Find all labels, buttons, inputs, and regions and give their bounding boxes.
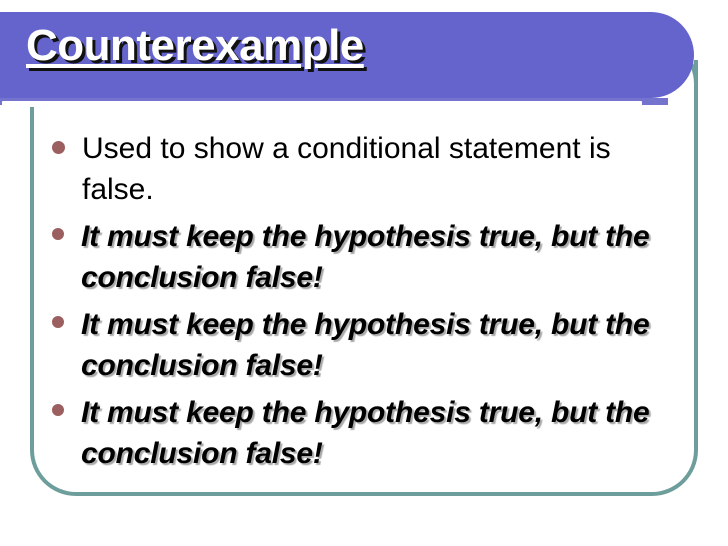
bullet-list: Used to show a conditional statement is …	[52, 128, 664, 480]
list-item: It must keep the hypothesis true, but th…	[52, 304, 664, 386]
list-item: It must keep the hypothesis true, but th…	[52, 392, 664, 474]
list-item: Used to show a conditional statement is …	[52, 128, 664, 210]
list-item-text: It must keep the hypothesis true, but th…	[81, 392, 664, 474]
bullet-dot-icon	[52, 316, 64, 328]
list-item-text: It must keep the hypothesis true, but th…	[81, 216, 664, 298]
title-divider-rule	[2, 101, 642, 107]
bullet-dot-icon	[52, 141, 65, 154]
bullet-dot-icon	[52, 404, 64, 416]
slide-canvas: Counterexample Used to show a conditiona…	[0, 0, 728, 546]
list-item-text: It must keep the hypothesis true, but th…	[81, 304, 664, 386]
page-title: Counterexample	[26, 21, 364, 71]
bullet-dot-icon	[52, 228, 64, 240]
list-item-text: Used to show a conditional statement is …	[82, 128, 664, 210]
list-item: It must keep the hypothesis true, but th…	[52, 216, 664, 298]
